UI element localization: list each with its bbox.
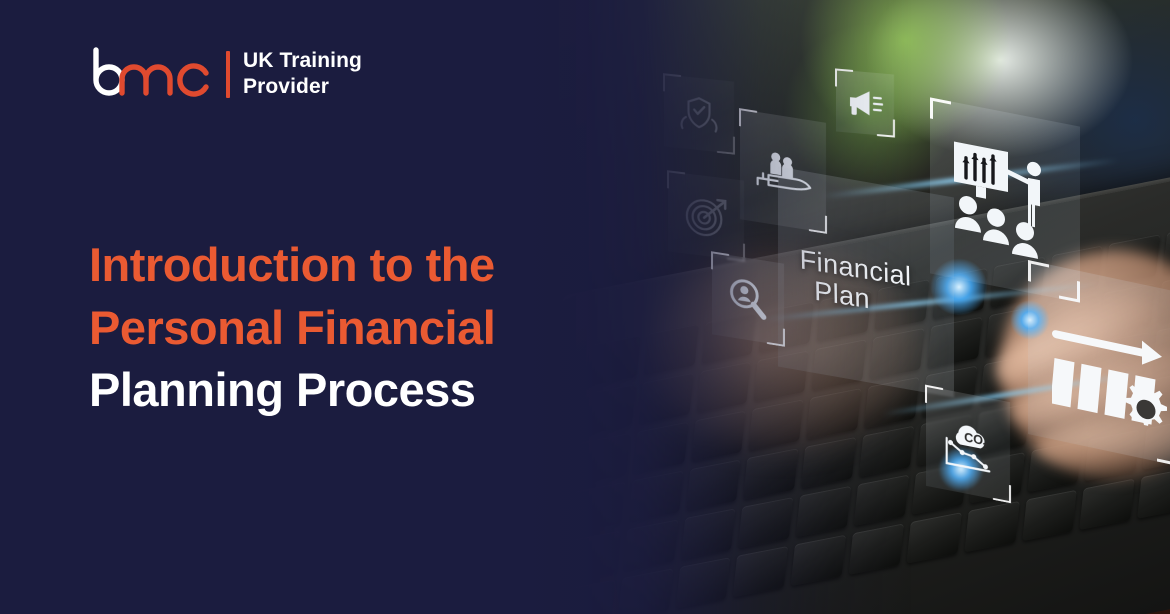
brand-logo[interactable]: UK Training Provider [88,46,362,102]
page-title: Introduction to the Personal Financial P… [89,234,629,420]
logo-tagline-line2: Provider [243,75,329,98]
title-line-2: Personal Financial [89,297,629,359]
bmc-logomark-icon [88,46,216,102]
logo-tagline-line1: UK Training [243,49,362,72]
logo-divider [226,51,230,98]
promo-banner: Financial Plan [0,0,1170,614]
logo-tagline: UK Training Provider [243,48,362,100]
title-line-1: Introduction to the [89,234,629,296]
title-line-3: Planning Process [89,359,629,421]
